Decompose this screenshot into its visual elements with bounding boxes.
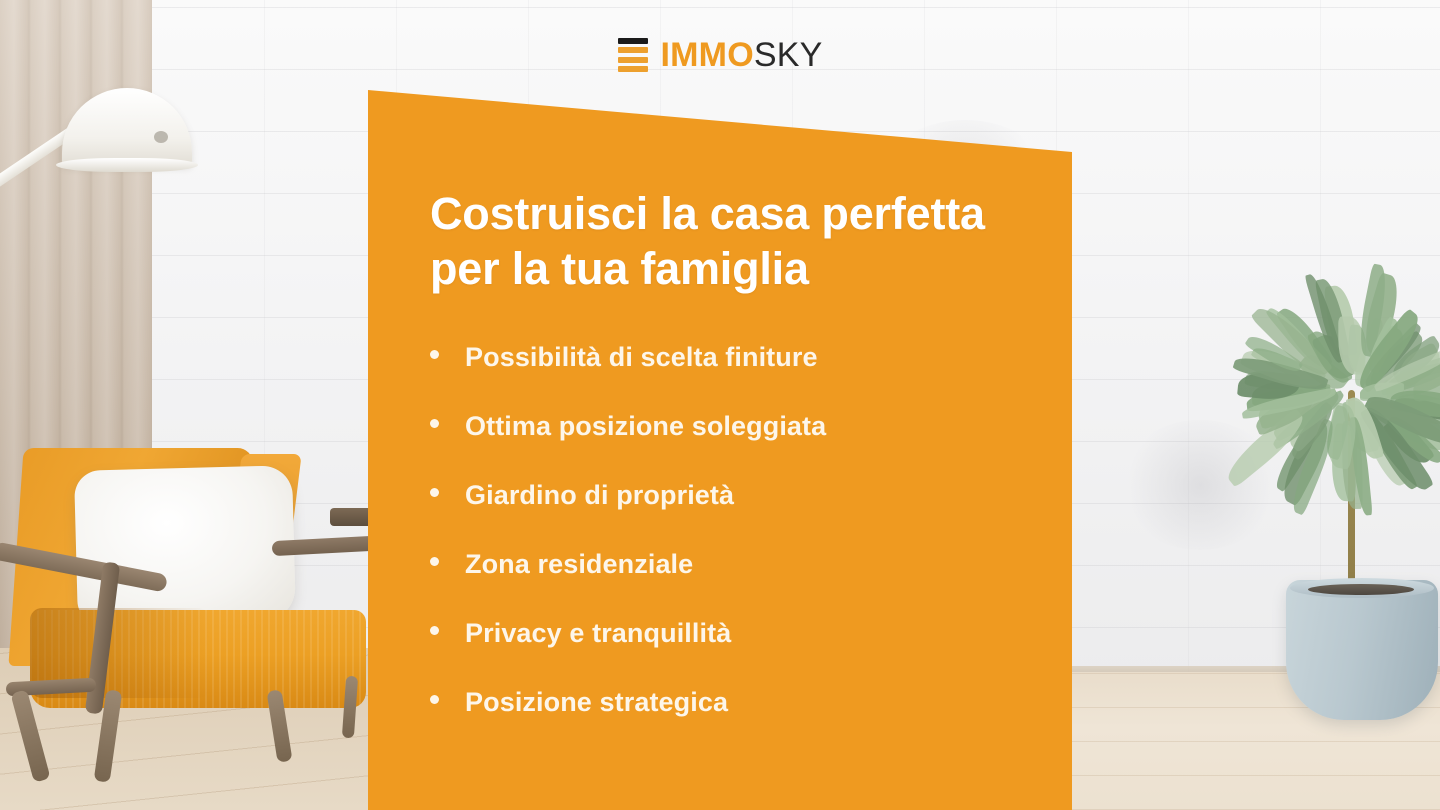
feature-bullet-item: Privacy e tranquillità <box>430 620 1030 647</box>
feature-bullet-item: Giardino di proprietà <box>430 482 1030 509</box>
bullet-dot-icon <box>430 488 439 497</box>
logo-word-sky: SKY <box>754 36 823 74</box>
feature-bullet-label: Posizione strategica <box>465 689 728 716</box>
logo-wordmark: IMMOSKY <box>661 38 823 72</box>
plant-soil <box>1308 584 1414 595</box>
slide-canvas: IMMOSKY Costruisci la casa perfetta per … <box>0 0 1440 810</box>
feature-bullet-label: Zona residenziale <box>465 551 693 578</box>
stacked-bars-logo-icon <box>618 38 648 72</box>
potted-plant <box>1190 140 1440 700</box>
logo-bar-orange <box>618 66 648 72</box>
feature-bullet-list: Possibilità di scelta finitureOttima pos… <box>430 344 1030 716</box>
logo-bar-dark <box>618 38 648 44</box>
logo-bar-orange <box>618 47 648 53</box>
feature-bullet-label: Giardino di proprietà <box>465 482 734 509</box>
bullet-dot-icon <box>430 419 439 428</box>
immosky-logo[interactable]: IMMOSKY <box>0 38 1440 72</box>
feature-bullet-label: Ottima posizione soleggiata <box>465 413 826 440</box>
feature-bullet-item: Ottima posizione soleggiata <box>430 413 1030 440</box>
feature-bullet-item: Posizione strategica <box>430 689 1030 716</box>
feature-bullet-label: Possibilità di scelta finiture <box>465 344 818 371</box>
logo-bar-orange <box>618 57 648 63</box>
armchair <box>0 440 392 780</box>
plant-pot <box>1286 580 1438 720</box>
bullet-dot-icon <box>430 350 439 359</box>
bullet-dot-icon <box>430 557 439 566</box>
lamp-detail <box>154 131 168 143</box>
panel-content: Costruisci la casa perfetta per la tua f… <box>430 186 1030 716</box>
logo-word-immo: IMMO <box>661 36 754 74</box>
bullet-dot-icon <box>430 695 439 704</box>
page-title: Costruisci la casa perfetta per la tua f… <box>430 186 1030 297</box>
feature-bullet-label: Privacy e tranquillità <box>465 620 731 647</box>
feature-bullet-item: Zona residenziale <box>430 551 1030 578</box>
bullet-dot-icon <box>430 626 439 635</box>
lamp-lip <box>56 158 198 172</box>
feature-bullet-item: Possibilità di scelta finiture <box>430 344 1030 371</box>
